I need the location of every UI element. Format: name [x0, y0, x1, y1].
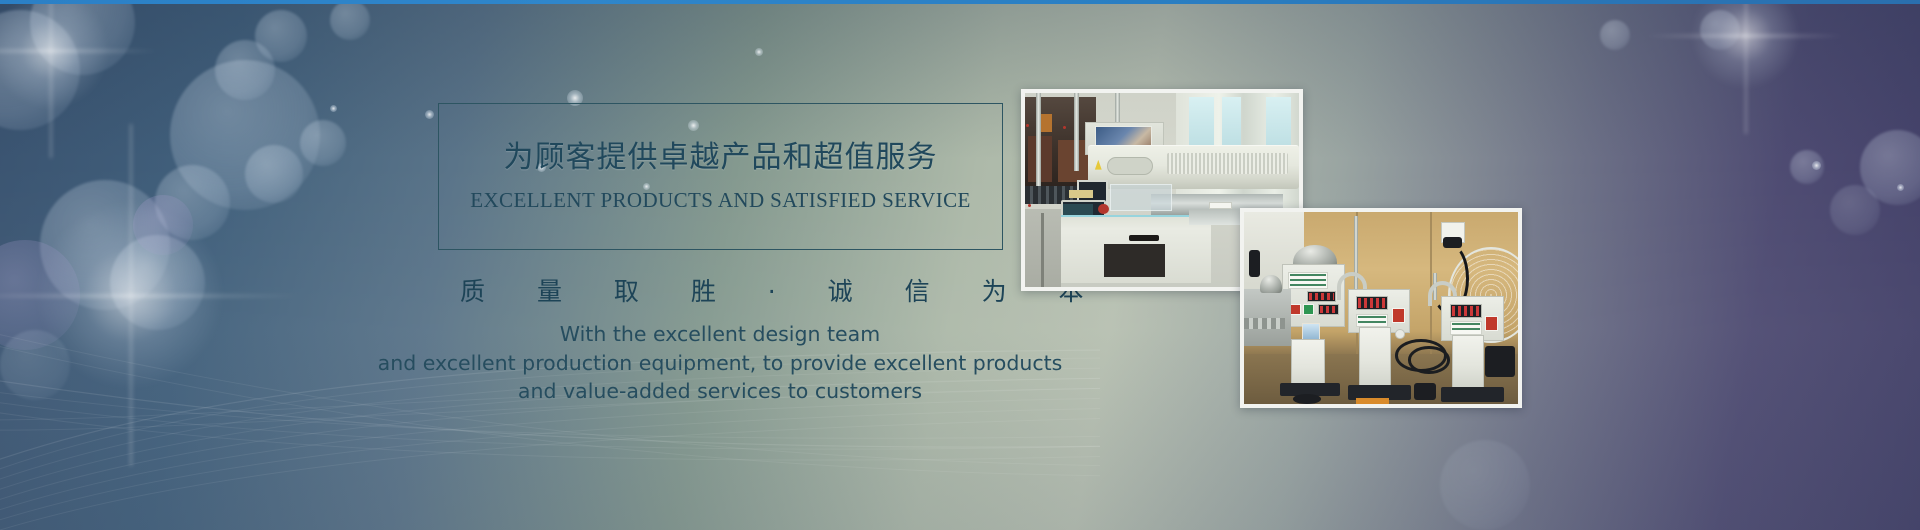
headline-chinese: 为顾客提供卓越产品和超值服务 — [438, 132, 1003, 176]
description-line-2: and excellent production equipment, to p… — [340, 349, 1100, 378]
description-line-1: With the excellent design team — [340, 320, 1100, 349]
press-machine-photo — [1240, 208, 1522, 408]
headline-english: EXCELLENT PRODUCTS AND SATISFIED SERVICE — [438, 188, 1003, 213]
description-line-3: and value-added services to customers — [340, 377, 1100, 406]
description-paragraph: With the excellent design team and excel… — [340, 320, 1100, 406]
promo-banner: 为顾客提供卓越产品和超值服务 EXCELLENT PRODUCTS AND SA… — [0, 0, 1920, 530]
headline-frame — [438, 103, 1003, 250]
copy-block: 为顾客提供卓越产品和超值服务 EXCELLENT PRODUCTS AND SA… — [0, 0, 1000, 530]
top-accent-bar — [0, 0, 1920, 4]
slogan-chinese: 质 量 取 胜 · 诚 信 为 本 — [438, 272, 1003, 308]
